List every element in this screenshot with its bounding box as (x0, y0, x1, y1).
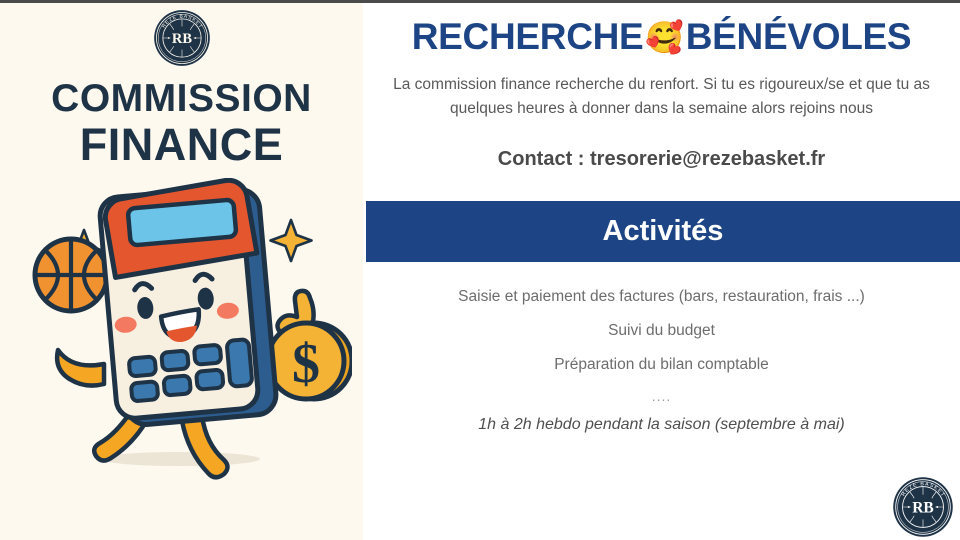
intro-paragraph: La commission finance recherche du renfo… (385, 73, 938, 121)
calculator-mascot-illustration: $ (12, 178, 352, 488)
right-panel: RECHERCHE 🥰 BÉNÉVOLES La commission fina… (363, 0, 960, 540)
reze-basket-club-logo-corner-icon: REZE BASKET RB (892, 476, 954, 538)
left-title-line1: COMMISSION (51, 79, 312, 118)
left-panel-title: COMMISSION FINANCE (51, 79, 312, 167)
list-item: Suivi du budget (363, 314, 960, 348)
activities-list: Saisie et paiement des factures (bars, r… (363, 280, 960, 406)
activities-banner: Activités (366, 201, 960, 262)
smiling-face-with-hearts-icon: 🥰 (645, 22, 683, 53)
headline-part1: RECHERCHE (412, 16, 644, 58)
reze-basket-club-logo-icon: REZE BASKET RB (153, 9, 211, 67)
list-item-ellipsis: .... (363, 382, 960, 406)
time-commitment-note: 1h à 2h hebdo pendant la saison (septemb… (363, 406, 960, 434)
list-item: Saisie et paiement des factures (bars, r… (363, 280, 960, 314)
contact-line[interactable]: Contact : tresorerie@rezebasket.fr (363, 148, 960, 171)
svg-text:RB: RB (912, 500, 934, 517)
left-panel: REZE BASKET RB COMMISSION FINANCE (0, 0, 363, 540)
list-item: Préparation du bilan comptable (363, 348, 960, 382)
svg-text:$: $ (292, 333, 320, 395)
headline-part2: BÉNÉVOLES (686, 16, 912, 58)
activities-banner-title: Activités (603, 215, 724, 248)
left-title-line2: FINANCE (51, 122, 312, 167)
svg-text:RB: RB (171, 31, 191, 47)
page-title: RECHERCHE 🥰 BÉNÉVOLES (363, 16, 960, 58)
poster-canvas: REZE BASKET RB COMMISSION FINANCE (0, 0, 960, 540)
top-edge-strip (0, 0, 960, 3)
mascot-container: $ (0, 173, 363, 493)
